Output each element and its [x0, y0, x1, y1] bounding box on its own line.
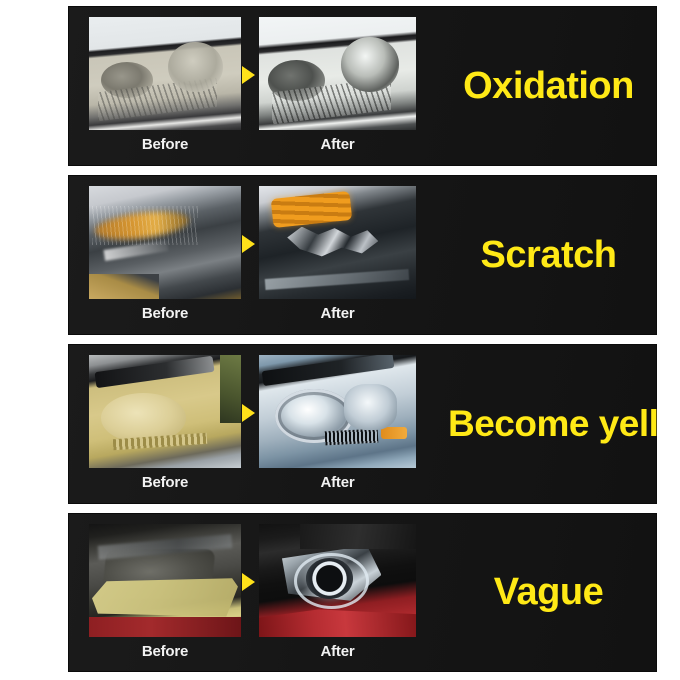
comparison-row-vague: Before After Vague [68, 513, 657, 672]
before-photo-oxidation [89, 17, 241, 130]
before-after-pair: Before After [68, 513, 428, 672]
row-title-scratch: Scratch [440, 175, 657, 335]
masking-tape [92, 578, 238, 616]
red-bodywork [259, 608, 416, 637]
halo-ring [294, 553, 369, 609]
arrow-right-icon [242, 66, 255, 84]
before-label: Before [89, 643, 241, 660]
comparison-row-oxidation: Before After Oxidation [68, 6, 657, 166]
lens-rim-highlight [265, 269, 410, 290]
lens-ribbing [113, 433, 208, 451]
red-bodywork [89, 617, 241, 637]
comparison-row-become-yellow: Before After Become yellow [68, 344, 657, 504]
lens-ribbing [325, 428, 379, 444]
hood-edge [262, 355, 395, 386]
lens-hatching [272, 78, 391, 124]
headlight-photo-crystal-clear [259, 524, 416, 637]
before-photo-scratch [89, 186, 241, 299]
row-title-oxidation: Oxidation [440, 6, 657, 166]
arrow-right-icon [242, 235, 255, 253]
after-photo-oxidation [259, 17, 416, 130]
headlight-photo-restored [259, 355, 416, 468]
after-photo-become-yellow [259, 355, 416, 468]
row-title-vague: Vague [440, 513, 657, 672]
after-photo-scratch [259, 186, 416, 299]
headlight-restoration-comparison-board: Before After Oxidation Before After Scra… [0, 0, 680, 680]
headlight-photo-hazy [89, 17, 241, 130]
headlight-photo-polished [259, 186, 416, 299]
after-photo-vague [259, 524, 416, 637]
scratch-streaks [92, 206, 198, 244]
before-after-pair: Before After [68, 344, 428, 504]
foliage-background [220, 355, 241, 423]
after-label: After [259, 643, 416, 660]
engine-bay-background [300, 524, 416, 549]
before-after-pair: Before After [68, 175, 428, 335]
amber-indicator [381, 427, 406, 438]
headlight-photo-clear [259, 17, 416, 130]
after-label: After [259, 136, 416, 153]
before-photo-vague [89, 524, 241, 637]
before-label: Before [89, 305, 241, 322]
before-photo-become-yellow [89, 355, 241, 468]
headlight-photo-yellowed [89, 355, 241, 468]
before-after-pair: Before After [68, 6, 428, 166]
headlight-photo-scratched [89, 186, 241, 299]
headlight-photo-foggy [89, 524, 241, 637]
comparison-row-scratch: Before After Scratch [68, 175, 657, 335]
arrow-right-icon [242, 404, 255, 422]
after-label: After [259, 474, 416, 491]
lens-hatching [98, 78, 217, 122]
before-label: Before [89, 136, 241, 153]
row-title-become-yellow: Become yellow [440, 344, 657, 504]
ground-gravel [89, 274, 159, 299]
after-label: After [259, 305, 416, 322]
arrow-right-icon [242, 573, 255, 591]
before-label: Before [89, 474, 241, 491]
